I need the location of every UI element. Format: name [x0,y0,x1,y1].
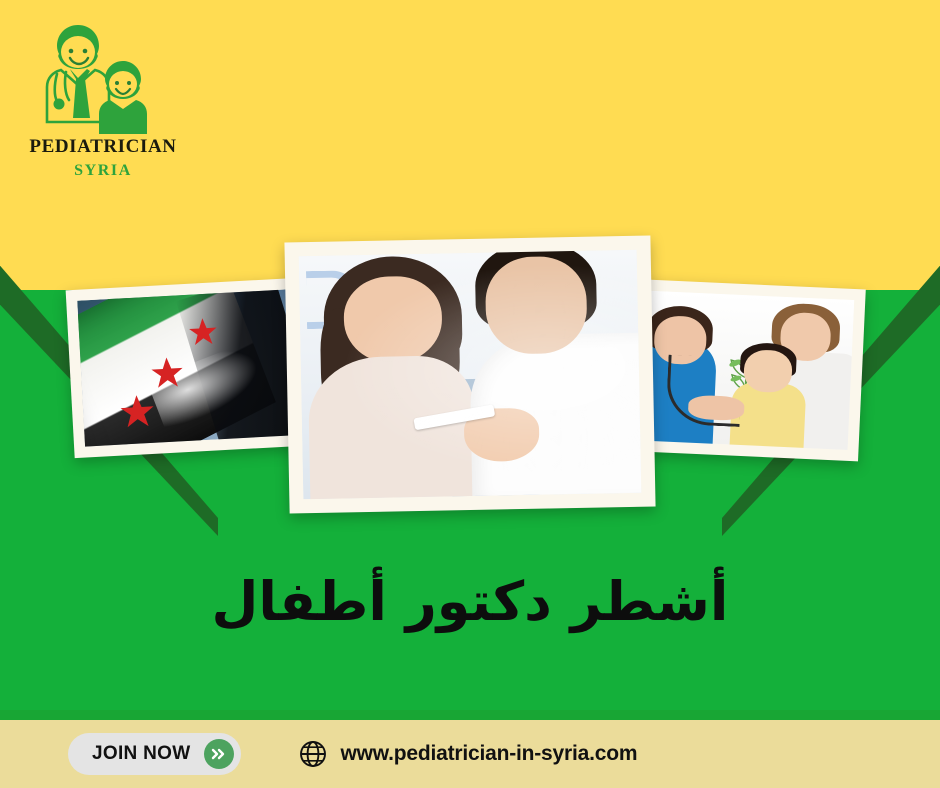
brand-logo: PEDIATRICIAN SYRIA [18,22,188,180]
consultation-image [299,250,642,499]
footer-bar: JOIN NOW www.pediatrician-in-syria.com [0,720,940,788]
brand-country: SYRIA [18,162,188,180]
website-url: www.pediatrician-in-syria.com [340,742,637,766]
photo-girl-doctor-thermometer [299,250,642,499]
flag-star-icon [150,355,186,391]
flag-image [77,289,295,446]
photo-nurse-examining-child [630,290,855,450]
depth-blur-overlay [299,250,642,499]
join-now-button[interactable]: JOIN NOW [68,733,241,775]
double-chevron-right-icon[interactable] [204,739,234,769]
photo-frame-syrian-flag [66,278,307,458]
exam-image [630,290,855,450]
website-link[interactable]: www.pediatrician-in-syria.com [299,740,637,768]
page-title: أشطر دكتور أطفال [0,570,940,633]
pediatrician-doctor-child-icon [37,22,169,134]
flag-star-icon [118,393,156,431]
footer-green-divider [0,710,940,720]
flag-star-icon [187,317,219,349]
nurse-arm [687,395,745,422]
photo-frame-girl-doctor-thermometer [284,236,655,514]
poster-canvas: PEDIATRICIAN SYRIA [0,0,940,788]
photo-frame-nurse-examining-child [618,279,866,462]
brand-name: PEDIATRICIAN [18,136,188,158]
photo-syrian-flag [77,289,295,446]
child-face [743,349,793,393]
join-now-label: JOIN NOW [92,743,190,765]
globe-icon [299,740,327,768]
